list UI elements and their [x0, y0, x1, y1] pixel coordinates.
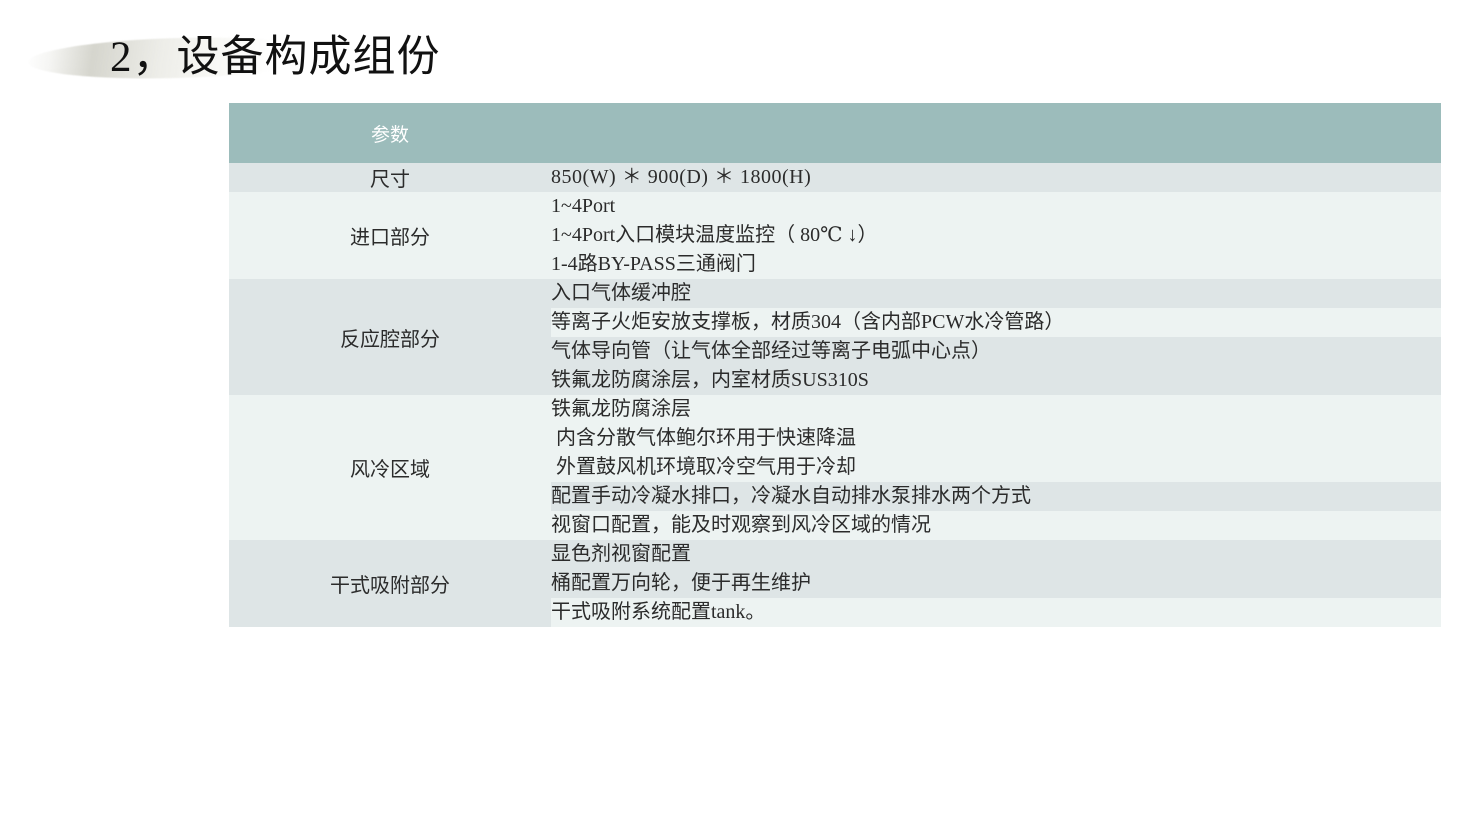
value-line: 1~4Port [551, 192, 1441, 221]
value-cell: 桶配置万向轮，便于再生维护 [551, 569, 1441, 598]
value-line: 气体导向管（让气体全部经过等离子电弧中心点） [551, 337, 1441, 366]
section-label-reaction-chamber: 反应腔部分 [229, 279, 551, 395]
section-label-inlet: 进口部分 [229, 192, 551, 279]
table-row: 反应腔部分 入口气体缓冲腔 [229, 279, 1441, 308]
section-label-dry-adsorption: 干式吸附部分 [229, 540, 551, 627]
value-line: 干式吸附系统配置tank。 [551, 598, 1441, 627]
value-line: 1~4Port入口模块温度监控（ 80℃ ↓） [551, 221, 1441, 250]
value-cell: 视窗口配置，能及时观察到风冷区域的情况 [551, 511, 1441, 540]
section-label-air-cooling: 风冷区域 [229, 395, 551, 540]
column-header-parameter: 参数 [229, 103, 551, 163]
value-cell: 显色剂视窗配置 [551, 540, 1441, 569]
value-line: 配置手动冷凝水排口，冷凝水自动排水泵排水两个方式 [551, 482, 1441, 511]
value-cell: 铁氟龙防腐涂层 内含分散气体鲍尔环用于快速降温 外置鼓风机环境取冷空气用于冷却 [551, 395, 1441, 482]
slide-title-block: 2，设备构成组份 [0, 0, 1469, 100]
value-cell: 入口气体缓冲腔 [551, 279, 1441, 308]
table-header-row: 参数 [229, 103, 1441, 163]
value-line: 桶配置万向轮，便于再生维护 [551, 569, 1441, 598]
column-header-value [551, 103, 1441, 163]
value-line: 铁氟龙防腐涂层 [551, 395, 1441, 424]
table-header: 参数 [229, 103, 1441, 163]
value-cell: 气体导向管（让气体全部经过等离子电弧中心点） 铁氟龙防腐涂层，内室材质SUS31… [551, 337, 1441, 395]
section-label-size: 尺寸 [229, 163, 551, 192]
value-cell: 配置手动冷凝水排口，冷凝水自动排水泵排水两个方式 [551, 482, 1441, 511]
table-row: 尺寸 850(W) ＊ 900(D) ＊ 1800(H) [229, 163, 1441, 192]
value-cell: 850(W) ＊ 900(D) ＊ 1800(H) [551, 163, 1441, 192]
value-line: 显色剂视窗配置 [551, 540, 1441, 569]
value-line: 等离子火炬安放支撑板，材质304（含内部PCW水冷管路） [551, 308, 1441, 337]
value-cell: 干式吸附系统配置tank。 [551, 598, 1441, 627]
table-row: 风冷区域 铁氟龙防腐涂层 内含分散气体鲍尔环用于快速降温 外置鼓风机环境取冷空气… [229, 395, 1441, 482]
value-line: 外置鼓风机环境取冷空气用于冷却 [551, 453, 1441, 482]
value-line: 入口气体缓冲腔 [551, 279, 1441, 308]
table-row: 干式吸附部分 显色剂视窗配置 [229, 540, 1441, 569]
value-line: 1-4路BY-PASS三通阀门 [551, 250, 1441, 279]
value-cell: 等离子火炬安放支撑板，材质304（含内部PCW水冷管路） [551, 308, 1441, 337]
value-line: 视窗口配置，能及时观察到风冷区域的情况 [551, 511, 1441, 540]
value-line: 铁氟龙防腐涂层，内室材质SUS310S [551, 366, 1441, 395]
value-line: 850(W) ＊ 900(D) ＊ 1800(H) [551, 163, 1441, 192]
table-row: 进口部分 1~4Port 1~4Port入口模块温度监控（ 80℃ ↓） 1-4… [229, 192, 1441, 279]
value-cell: 1~4Port 1~4Port入口模块温度监控（ 80℃ ↓） 1-4路BY-P… [551, 192, 1441, 279]
equipment-composition-table: 参数 尺寸 850(W) ＊ 900(D) ＊ 1800(H) 进口部分 1~4… [229, 103, 1441, 627]
table-body: 尺寸 850(W) ＊ 900(D) ＊ 1800(H) 进口部分 1~4Por… [229, 163, 1441, 627]
value-line: 内含分散气体鲍尔环用于快速降温 [551, 424, 1441, 453]
page-title: 2，设备构成组份 [110, 30, 441, 86]
